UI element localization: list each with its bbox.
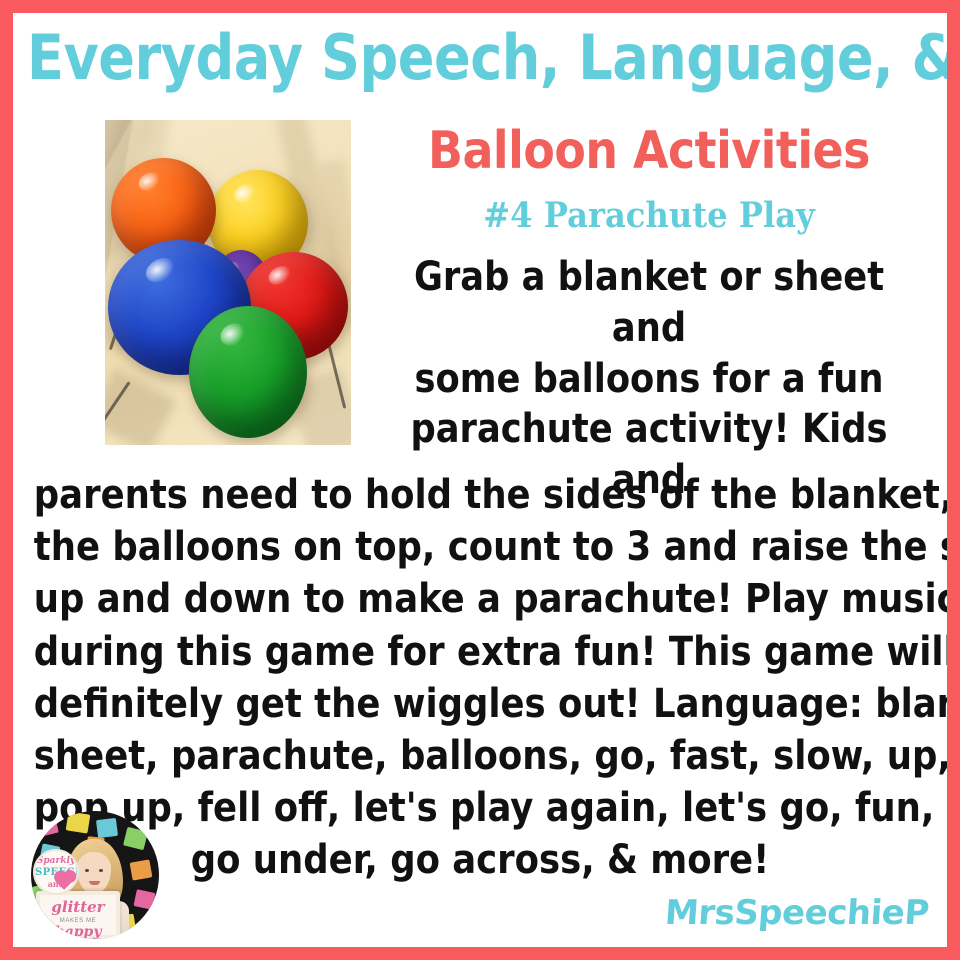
body-line: during this game for extra fun! This gam… xyxy=(34,626,926,678)
sticky-note xyxy=(35,815,59,837)
blanket-fold-icon xyxy=(105,368,177,445)
body-line: definitely get the wiggles out! Language… xyxy=(34,678,926,730)
sign-line-3: happy xyxy=(40,925,116,939)
body-line: up and down to make a parachute! Play mu… xyxy=(34,573,926,625)
sticky-note xyxy=(133,889,155,910)
poster-canvas: Everyday Speech, Language, & Play xyxy=(13,13,947,947)
balloon-photo-image xyxy=(105,120,351,445)
activity-body-wide: parents need to hold the sides of the bl… xyxy=(34,469,926,887)
sticky-note xyxy=(130,859,153,880)
subject-title: Balloon Activities xyxy=(379,125,920,177)
speech-badge: Sparkly SPEECH and xyxy=(33,849,79,895)
body-line: pop up, fell off, let's play again, let'… xyxy=(34,782,926,834)
badge-line-1: Sparkly xyxy=(35,856,77,866)
eye-icon xyxy=(99,869,103,872)
eye-icon xyxy=(85,869,89,872)
activity-header-column: Balloon Activities #4 Parachute Play Gra… xyxy=(373,125,925,506)
green-balloon xyxy=(189,306,307,438)
body-line: sheet, parachute, balloons, go, fast, sl… xyxy=(34,730,926,782)
body-line: go under, go across, & more! xyxy=(34,834,926,886)
smile-icon xyxy=(89,881,100,885)
body-line: some balloons for a fun xyxy=(379,354,920,405)
body-line: parents need to hold the sides of the bl… xyxy=(34,469,926,521)
avatar: glitter MAKES ME happy Sparkly SPEECH an… xyxy=(31,811,159,939)
page-title: Everyday Speech, Language, & Play xyxy=(27,27,933,89)
sticky-note xyxy=(96,818,118,838)
sign-line-1: glitter xyxy=(40,900,116,915)
activity-title: #4 Parachute Play xyxy=(395,198,903,233)
body-line: Grab a blanket or sheet and xyxy=(379,252,920,354)
balloon-photo xyxy=(105,120,351,445)
body-line: the balloons on top, count to 3 and rais… xyxy=(34,521,926,573)
signature: MrsSpeechieP xyxy=(664,893,931,933)
poster: Everyday Speech, Language, & Play xyxy=(0,0,960,960)
sticky-note xyxy=(66,811,91,833)
activity-body-narrow: Grab a blanket or sheet and some balloon… xyxy=(379,252,920,506)
glitter-sign: glitter MAKES ME happy xyxy=(36,891,120,939)
